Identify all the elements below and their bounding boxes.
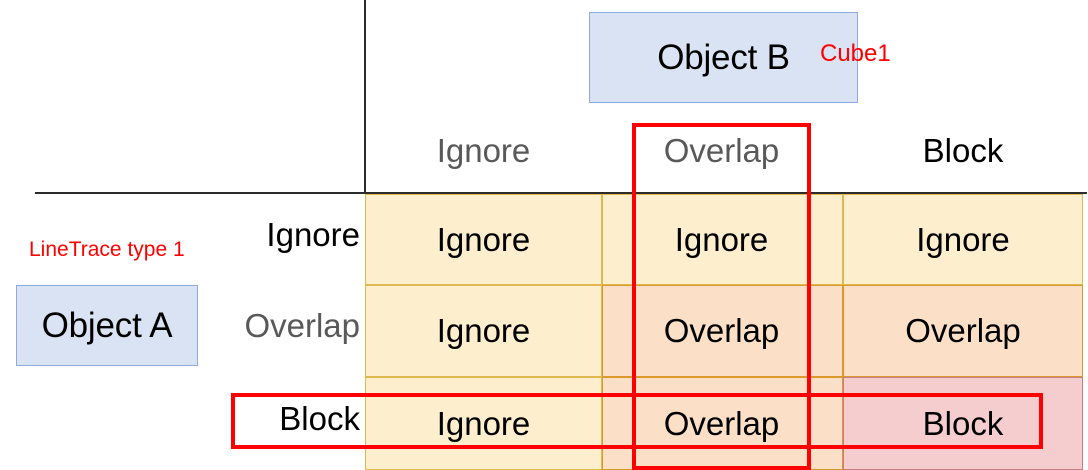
matrix-cell-overlap-block: Overlap xyxy=(843,285,1083,377)
matrix-spacer-r1-c2 xyxy=(809,194,843,285)
matrix-cell-block-block: Block xyxy=(843,377,1083,470)
matrix-cell-ignore-overlap: Ignore xyxy=(634,194,809,285)
row-header-overlap: Overlap xyxy=(222,307,360,345)
collision-response-matrix-diagram: Object B Cube1 Object A LineTrace type 1… xyxy=(0,0,1088,470)
matrix-cell-ignore-block: Ignore xyxy=(843,194,1083,285)
object-a-box: Object A xyxy=(16,285,198,366)
matrix-cell-block-overlap: Overlap xyxy=(634,377,809,470)
matrix-cell-overlap-ignore: Ignore xyxy=(365,285,602,377)
object-b-label: Object B xyxy=(657,38,790,78)
row-header-ignore: Ignore xyxy=(222,216,360,254)
matrix-cell-block-ignore: Ignore xyxy=(365,377,602,470)
response-matrix: Ignore Ignore Ignore Ignore Overlap Over… xyxy=(365,194,1083,470)
column-header-ignore: Ignore xyxy=(365,126,602,176)
cube1-annotation: Cube1 xyxy=(820,40,891,68)
matrix-spacer-r3-c1 xyxy=(602,377,634,470)
matrix-spacer-r2-c1 xyxy=(602,285,634,377)
row-header-block: Block xyxy=(222,400,360,438)
linetrace-type-1-annotation: LineTrace type 1 xyxy=(29,238,185,262)
object-a-label: Object A xyxy=(42,306,173,346)
matrix-cell-overlap-overlap: Overlap xyxy=(634,285,809,377)
matrix-spacer-r3-c2 xyxy=(809,377,843,470)
column-header-block: Block xyxy=(843,126,1083,176)
column-header-overlap: Overlap xyxy=(634,126,809,176)
matrix-cell-ignore-ignore: Ignore xyxy=(365,194,602,285)
matrix-spacer-r2-c2 xyxy=(809,285,843,377)
object-b-box: Object B xyxy=(589,12,858,103)
matrix-spacer-r1-c1 xyxy=(602,194,634,285)
